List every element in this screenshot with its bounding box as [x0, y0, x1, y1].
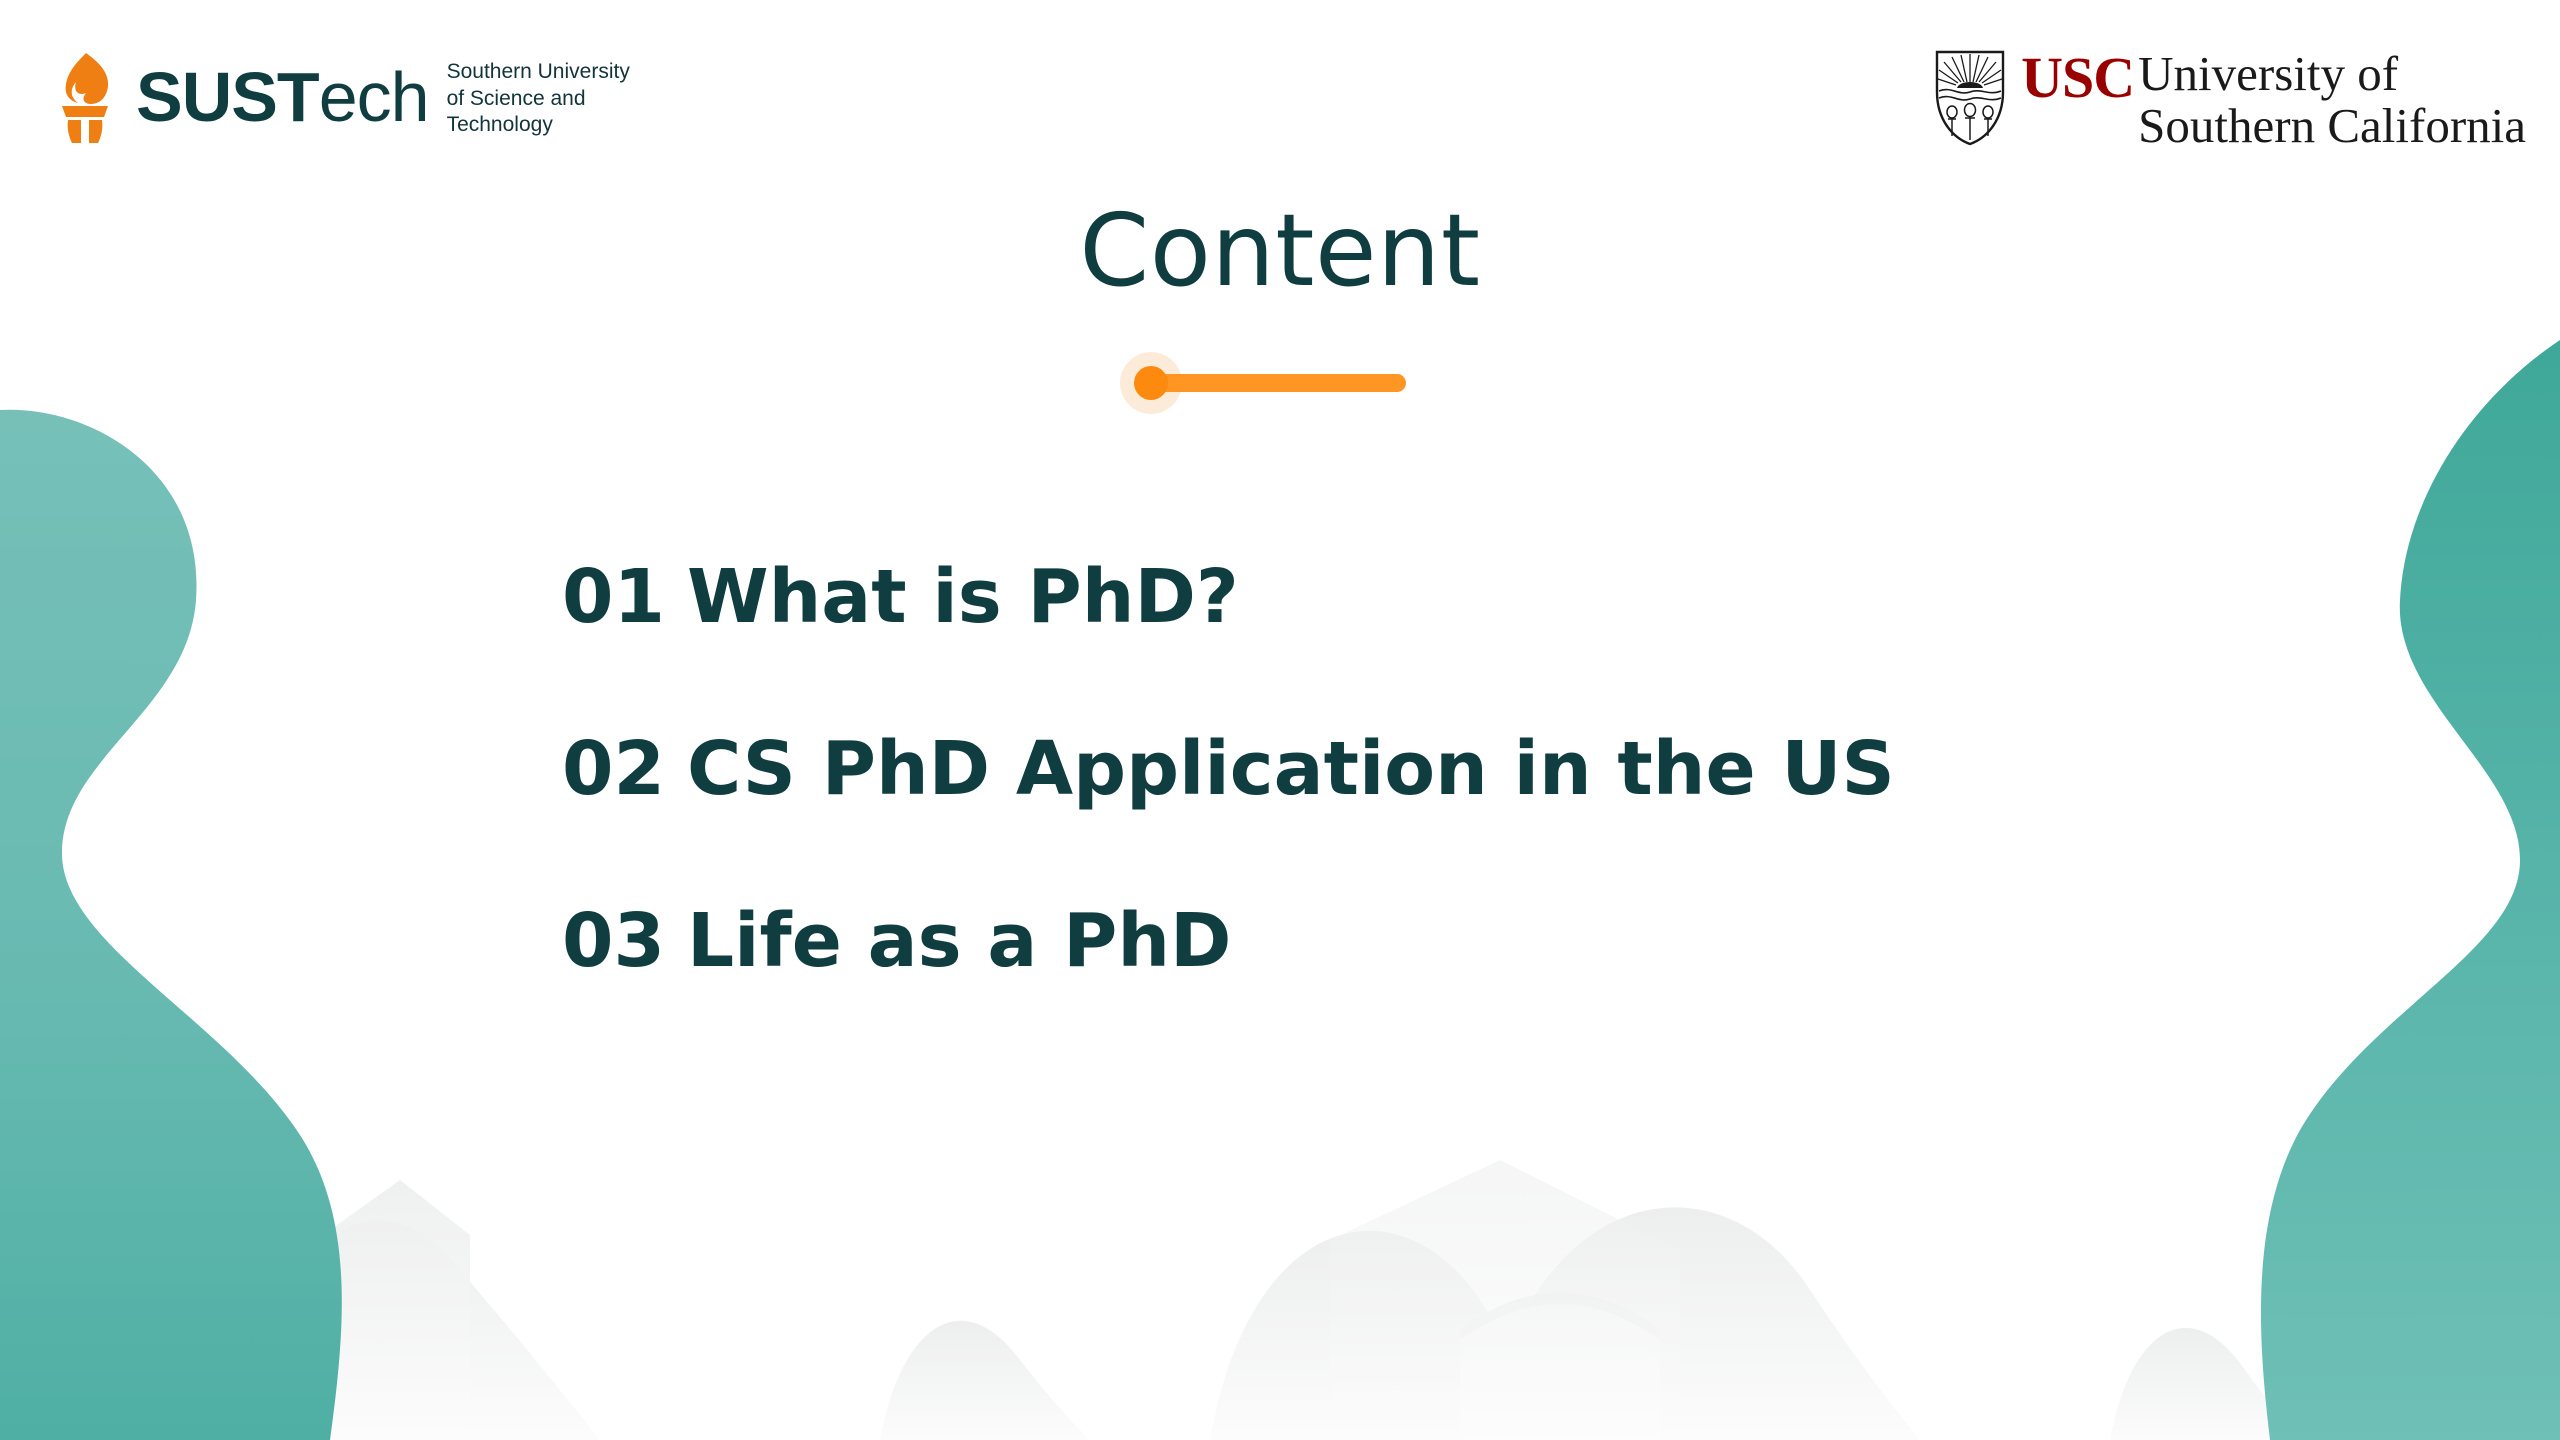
slide-root: SUSTech Southern University of Science a… [0, 0, 2560, 1440]
sustech-tagline-line3: Technology [447, 112, 630, 139]
content-item-02-label: CS PhD Application in the US [687, 726, 1895, 812]
sustech-wordmark-light: ech [319, 58, 429, 136]
usc-logo: USC University of Southern California [1931, 48, 2526, 148]
usc-name-line2: Southern California [2138, 100, 2526, 152]
page-title: Content [0, 196, 2560, 306]
content-item-01-number: 01 [562, 554, 665, 640]
content-item-01[interactable]: 01What is PhD? [562, 560, 2162, 634]
usc-name-block: University of Southern California [2134, 48, 2526, 152]
sustech-wordmark-bold: SUST [136, 58, 319, 136]
sustech-logo: SUSTech Southern University of Science a… [48, 52, 630, 142]
sustech-wordmark: SUSTech [136, 64, 429, 131]
content-item-02[interactable]: 02CS PhD Application in the US [562, 732, 2162, 806]
right-wave-shape [2261, 340, 2560, 1440]
content-item-03-label: Life as a PhD [687, 898, 1231, 984]
content-item-02-number: 02 [562, 726, 665, 812]
usc-text-block: USC University of Southern California [2021, 48, 2526, 152]
torch-flame-icon [48, 51, 122, 143]
accent-bar [1154, 374, 1406, 392]
title-accent-decoration [1120, 342, 1460, 422]
skyline-watermark [250, 1160, 2555, 1440]
usc-shield-icon [1931, 48, 2009, 146]
accent-dot [1134, 366, 1168, 400]
sustech-tagline-line1: Southern University [447, 59, 630, 86]
left-wave-shape [0, 410, 342, 1440]
content-item-03[interactable]: 03Life as a PhD [562, 904, 2162, 978]
usc-name-line1: University of [2138, 48, 2526, 100]
sustech-tagline: Southern University of Science and Techn… [447, 55, 630, 140]
content-list: 01What is PhD? 02CS PhD Application in t… [562, 560, 2162, 978]
usc-mark: USC [2021, 48, 2134, 107]
content-item-01-label: What is PhD? [687, 554, 1239, 640]
sustech-tagline-line2: of Science and [447, 86, 630, 113]
content-item-03-number: 03 [562, 898, 665, 984]
